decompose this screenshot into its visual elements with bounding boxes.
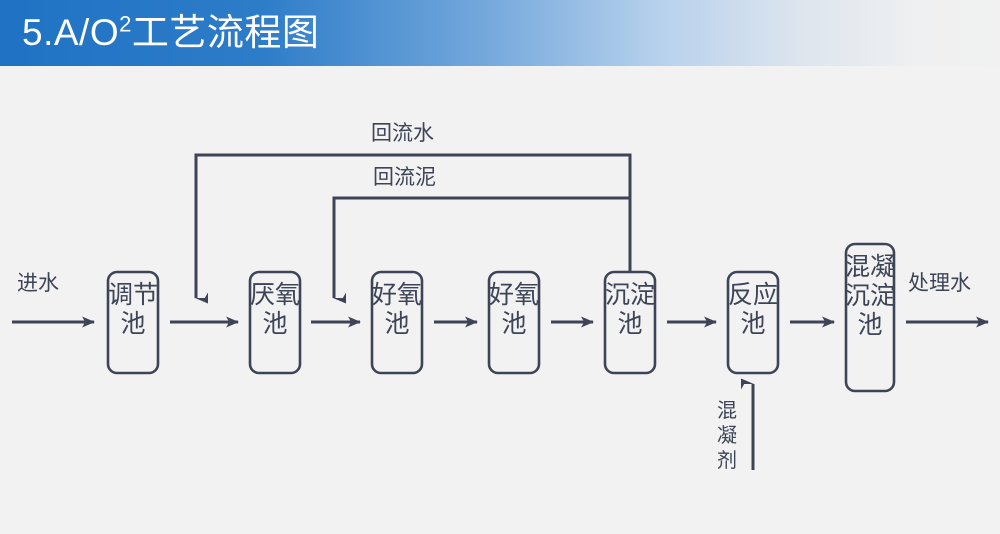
header-bar: 5.A/O2工艺流程图 (0, 0, 1000, 66)
coagulant-label: 混凝剂 (714, 399, 740, 474)
node-box-hunning (846, 244, 894, 391)
page-title-superscript: 2 (119, 12, 132, 37)
inlet-label: 进水 (17, 271, 59, 296)
node-box-haoyang2 (489, 272, 539, 373)
flow-diagram: 调节池 厌氧池 好氧池 好氧池 沉淀池 反应池 混凝沉淀池 进水 处理水 回流水… (0, 66, 1000, 534)
node-boxes (108, 244, 894, 391)
node-box-chendian (605, 272, 655, 373)
node-box-yanyang (250, 272, 300, 373)
page-title-prefix: 5.A/O (22, 12, 119, 53)
recycle-sludge-line (334, 198, 630, 298)
node-box-tiaojie (108, 272, 158, 373)
page-title-suffix: 工艺流程图 (132, 12, 320, 53)
recycle-sludge-label: 回流泥 (373, 165, 436, 190)
flow-diagram-svg (0, 66, 1000, 534)
recycle-sludge-path (334, 198, 630, 298)
outlet-label: 处理水 (908, 271, 971, 296)
node-box-haoyang1 (372, 272, 422, 373)
node-box-fanying (728, 272, 778, 373)
page-title: 5.A/O2工艺流程图 (22, 4, 319, 62)
recycle-water-label: 回流水 (371, 121, 434, 146)
